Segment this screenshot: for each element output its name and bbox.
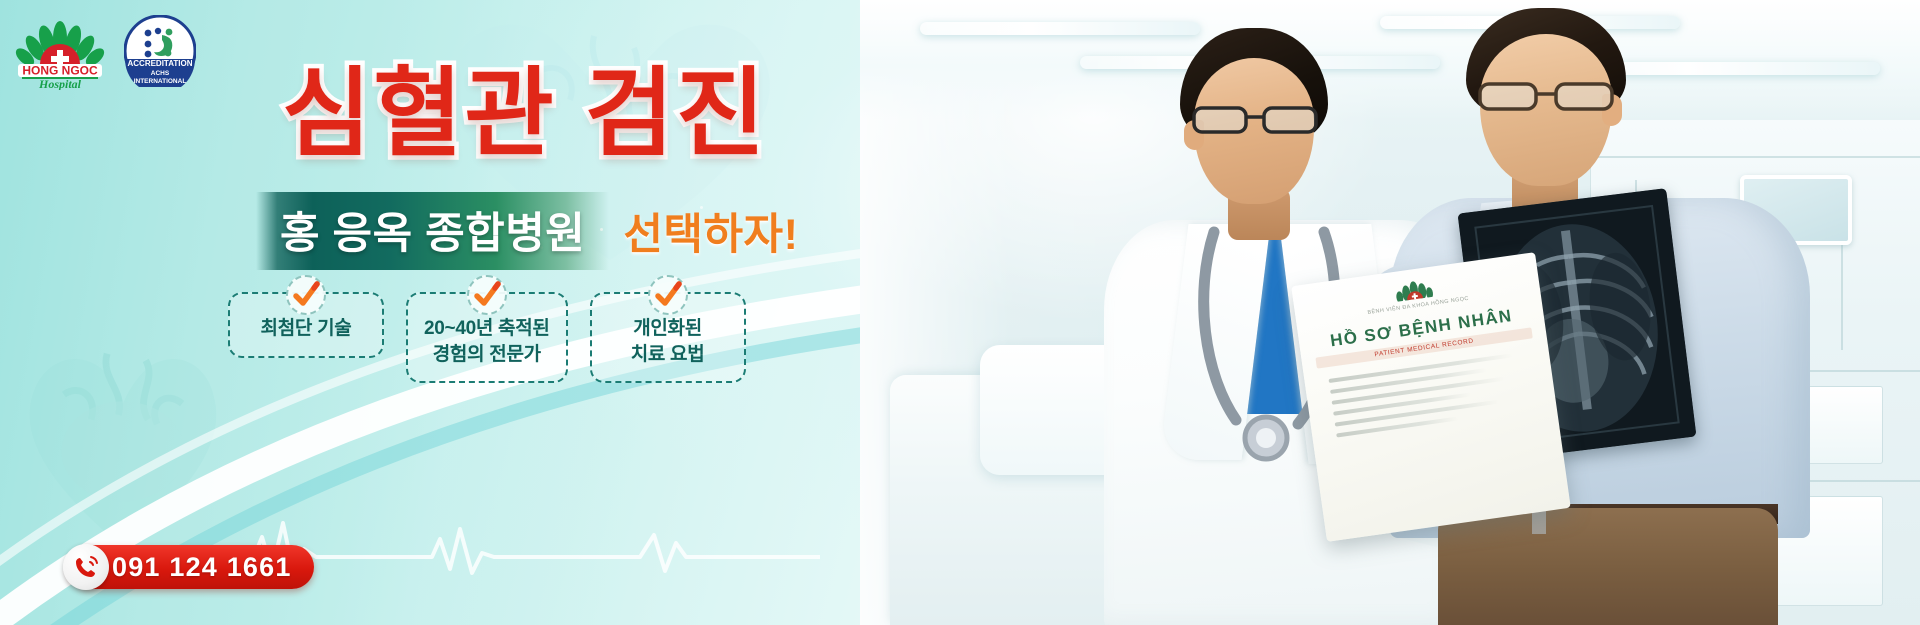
feature-badge-group: 최첨단 기술 20~40년 축적된 경험의 전문가 개인화된 치료 요법 [228,292,746,383]
hospital-wordmark: HONG NGOC [22,64,98,78]
hospital-script: Hospital [38,77,82,90]
check-icon [286,275,326,315]
hong-ngoc-hospital-logo[interactable]: HONG NGOC Hospital [14,12,106,90]
hero-photo: BỆNH VIỆN ĐA KHOA HỒNG NGỌC HỒ SƠ BỆNH N… [860,0,1920,625]
patient-glasses-icon [1474,78,1620,114]
phone-number-text: 091 124 1661 [112,552,292,583]
phone-ringing-icon [63,544,109,590]
achs-line1: ACCREDITATION [127,59,192,68]
badge-label: 최첨단 기술 [246,316,366,342]
promo-banner: BỆNH VIỆN ĐA KHOA HỒNG NGỌC HỒ SƠ BỆNH N… [0,0,1920,625]
badge-technology: 최첨단 기술 [228,292,384,358]
subtitle-row: 홍 응옥 종합병원 선택하자! [256,192,798,270]
badge-label: 개인화된 치료 요법 [608,316,728,367]
check-icon [648,275,688,315]
badge-experience: 20~40년 축적된 경험의 전문가 [406,292,568,383]
achs-line2: ACHS [151,70,170,77]
patient-record-document: BỆNH VIỆN ĐA KHOA HỒNG NGỌC HỒ SƠ BỆNH N… [1291,252,1571,542]
doctor-glasses-icon [1188,102,1324,136]
achs-line3: INTERNATIONAL [134,78,187,85]
logo-row: HONG NGOC Hospital [14,12,196,90]
heart-watermark-bottom-icon [8,315,238,565]
achs-accreditation-logo[interactable]: ACCREDITATION ACHS INTERNATIONAL [124,15,196,87]
subtitle-call-to-action: 선택하자! [623,200,798,262]
badge-personalized: 개인화된 치료 요법 [590,292,746,383]
check-icon [467,275,507,315]
subtitle-highlight-band: 홍 응옥 종합병원 [256,192,609,270]
badge-label: 20~40년 축적된 경험의 전문가 [424,316,550,367]
phone-cta-button[interactable]: 091 124 1661 [68,545,314,589]
record-hospital-logo-icon [1387,277,1445,303]
headline-title: 심혈관 검진 [282,64,767,165]
patient-trousers [1438,508,1778,625]
